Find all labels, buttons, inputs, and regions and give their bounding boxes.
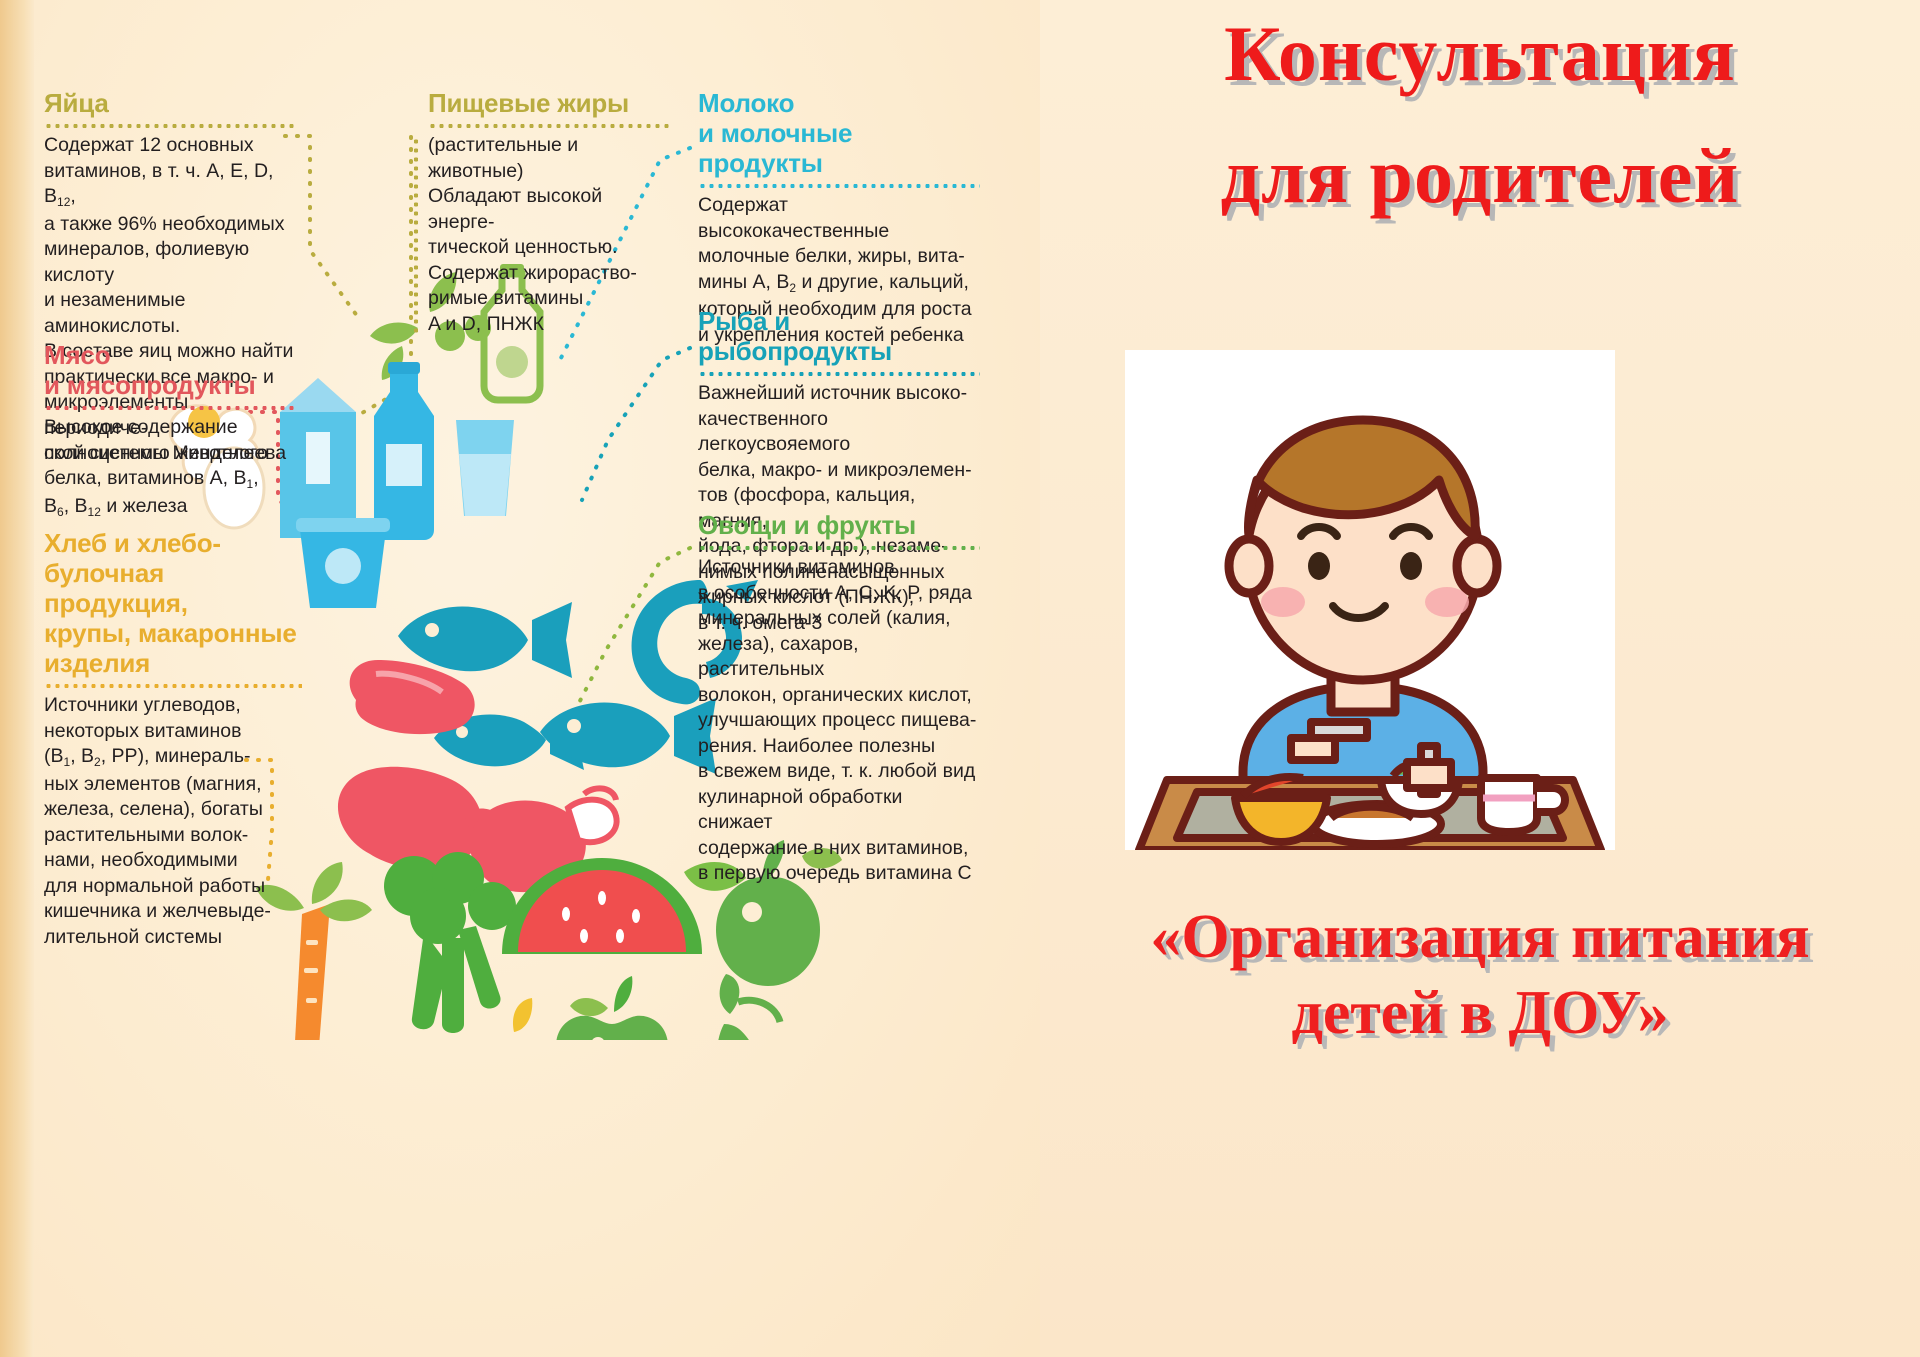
cover-subtitle: «Организация питания детей в ДОУ» <box>1040 900 1920 1051</box>
section-vegfruit-heading: Овощи и фрукты <box>698 510 980 540</box>
section-fats: Пищевые жиры (растительные и животные) О… <box>428 88 670 337</box>
cover-title-line-2: для родителей <box>1040 136 1920 216</box>
section-fats-divider <box>428 124 670 128</box>
section-fats-heading: Пищевые жиры <box>428 88 670 118</box>
section-milk-heading: Молокои молочные продукты <box>698 88 980 178</box>
section-bread-body: Источники углеводов, некоторых витаминов… <box>44 693 302 950</box>
section-vegfruit: Овощи и фрукты Источники витаминов, в ос… <box>698 510 980 887</box>
section-bread-heading: Хлеб и хлебо-булочная продукция,крупы, м… <box>44 528 302 678</box>
section-meat-divider <box>44 406 296 410</box>
section-vegfruit-divider <box>698 546 980 550</box>
section-fish-heading: Рыба и рыбопродукты <box>698 306 980 366</box>
infographic-panel: Яйца Содержат 12 основных витаминов, в т… <box>0 0 1040 1357</box>
section-fats-body: (растительные и животные) Обладают высок… <box>428 133 670 337</box>
cover-panel: Консультация для родителей <box>1040 0 1920 1357</box>
section-milk-divider <box>698 184 980 188</box>
cover-subtitle-line-1: «Организация питания <box>1040 900 1920 976</box>
section-fish-divider <box>698 372 980 376</box>
section-meat-heading: Мясои мясопродукты <box>44 340 296 400</box>
section-fats-left-divider <box>414 137 418 337</box>
child-photo <box>1125 350 1615 850</box>
section-eggs-divider <box>44 124 296 128</box>
section-meat: Мясои мясопродукты Высокое содержание по… <box>44 340 296 521</box>
cover-title-line-1: Консультация <box>1040 14 1920 94</box>
section-eggs-heading: Яйца <box>44 88 296 118</box>
section-meat-body: Высокое содержание полноценного животног… <box>44 415 296 521</box>
section-bread: Хлеб и хлебо-булочная продукция,крупы, м… <box>44 528 302 950</box>
section-vegfruit-body: Источники витаминов, в особенности A, C,… <box>698 555 980 887</box>
section-bread-divider <box>44 684 302 688</box>
cover-subtitle-line-2: детей в ДОУ» <box>1040 976 1920 1052</box>
page-edge-strip <box>0 0 34 1357</box>
